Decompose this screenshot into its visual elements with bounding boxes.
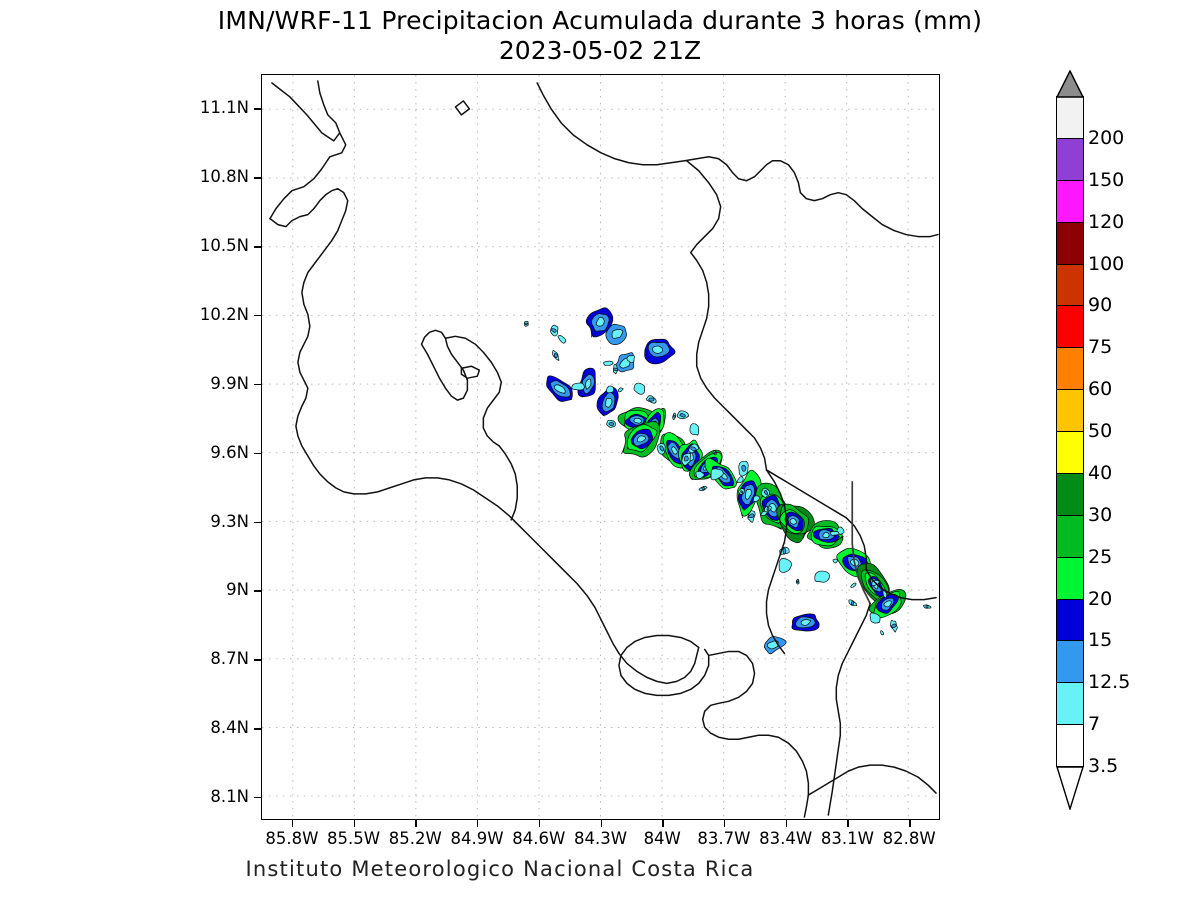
colorbar-segment[interactable] [1056, 640, 1084, 683]
y-axis-label: 8.1N [179, 787, 249, 806]
precip-contour [742, 465, 746, 471]
colorbar-tick-label: 30 [1088, 504, 1112, 526]
precip-contour [609, 422, 614, 425]
y-axis-tick [254, 384, 261, 385]
y-axis-tick [254, 108, 261, 109]
y-axis-label: 8.4N [179, 718, 249, 737]
x-axis-tick [909, 820, 910, 827]
precip-contour [558, 335, 566, 343]
y-axis-label: 10.5N [179, 236, 249, 255]
x-axis-tick [662, 820, 663, 827]
precip-contour [823, 532, 829, 537]
precip-contour [783, 548, 786, 555]
precip-contour [926, 605, 928, 608]
precip-contour [634, 418, 642, 423]
colorbar-bottom-arrow [1056, 766, 1084, 810]
y-axis-tick [254, 797, 261, 798]
y-axis-tick [254, 590, 261, 591]
precip-contour [652, 346, 662, 353]
colorbar-segment[interactable] [1056, 347, 1084, 390]
precip-contour [613, 368, 618, 371]
colorbar-tick-label: 100 [1088, 253, 1124, 275]
precip-contour [634, 383, 645, 394]
y-axis-tick [254, 315, 261, 316]
precip-contour [851, 601, 854, 605]
weather-map-figure: IMN/WRF-11 Precipitacion Acumulada duran… [0, 0, 1200, 900]
colorbar-tick-label: 15 [1088, 629, 1112, 651]
precip-contour [830, 531, 839, 535]
colorbar-segment[interactable] [1056, 222, 1084, 265]
title-line-1: IMN/WRF-11 Precipitacion Acumulada duran… [0, 6, 1200, 36]
precip-contour [603, 361, 613, 365]
footer-credit: Instituto Meteorologico Nacional Costa R… [0, 857, 1000, 881]
colorbar-segment[interactable] [1056, 724, 1084, 767]
colorbar-tick-label: 3.5 [1088, 755, 1118, 777]
colorbar-top-arrow [1056, 70, 1084, 98]
y-axis-tick [254, 728, 261, 729]
x-axis-tick [539, 820, 540, 827]
precip-contour [702, 487, 705, 490]
colorbar-tick-label: 120 [1088, 211, 1124, 233]
y-axis-tick [254, 659, 261, 660]
x-axis-tick [292, 820, 293, 827]
precip-contour [767, 507, 769, 510]
y-axis-label: 10.2N [179, 305, 249, 324]
x-axis-tick [786, 820, 787, 827]
y-axis-tick [254, 246, 261, 247]
y-axis-label: 9.3N [179, 512, 249, 531]
colorbar-segment[interactable] [1056, 138, 1084, 181]
colorbar-segment[interactable] [1056, 264, 1084, 307]
y-axis-label: 9.9N [179, 374, 249, 393]
x-axis-tick [724, 820, 725, 827]
colorbar-tick-label: 25 [1088, 546, 1112, 568]
colorbar-segment[interactable] [1056, 389, 1084, 432]
x-axis-label: 82.8W [864, 829, 954, 848]
x-axis-tick [354, 820, 355, 827]
y-axis-label: 11.1N [179, 98, 249, 117]
colorbar-segment[interactable] [1056, 473, 1084, 516]
colorbar-tick-label: 90 [1088, 294, 1112, 316]
colorbar-tick-label: 20 [1088, 588, 1112, 610]
colorbar-tick-label: 50 [1088, 420, 1112, 442]
map-canvas [262, 75, 939, 819]
precip-contour [649, 398, 655, 401]
x-axis-tick [601, 820, 602, 827]
colorbar-tick-label: 75 [1088, 336, 1112, 358]
colorbar-segment[interactable] [1056, 96, 1084, 139]
precip-contour [684, 456, 688, 461]
colorbar-tick-label: 60 [1088, 378, 1112, 400]
precip-contour [690, 424, 699, 436]
colorbar-segment[interactable] [1056, 682, 1084, 725]
colorbar-segment[interactable] [1056, 557, 1084, 600]
precip-contour [815, 571, 830, 582]
precip-contour [833, 559, 837, 563]
colorbar-segment[interactable] [1056, 180, 1084, 223]
y-axis-tick [254, 522, 261, 523]
x-axis-tick [847, 820, 848, 827]
precip-contour [881, 631, 884, 635]
x-axis-tick [415, 820, 416, 827]
y-axis-tick [254, 453, 261, 454]
precip-contour [554, 353, 557, 357]
figure-title: IMN/WRF-11 Precipitacion Acumulada duran… [0, 6, 1200, 66]
colorbar-tick-label: 12.5 [1088, 671, 1130, 693]
colorbar-segment[interactable] [1056, 431, 1084, 474]
colorbar[interactable] [1056, 96, 1084, 810]
colorbar-tick-label: 7 [1088, 713, 1100, 735]
y-axis-tick [254, 177, 261, 178]
colorbar-segment[interactable] [1056, 515, 1084, 558]
y-axis-label: 9N [179, 580, 249, 599]
precip-contour [572, 383, 585, 390]
precip-contour [606, 386, 613, 393]
y-axis-label: 8.7N [179, 649, 249, 668]
colorbar-segment[interactable] [1056, 599, 1084, 642]
colorbar-tick-label: 200 [1088, 127, 1124, 149]
colorbar-tick-label: 150 [1088, 169, 1124, 191]
map-plot-area[interactable] [261, 74, 940, 820]
y-axis-label: 10.8N [179, 167, 249, 186]
precip-contour [779, 558, 792, 572]
coastline-and-borders [270, 81, 938, 817]
precip-contour [525, 323, 528, 325]
precip-contour [618, 388, 623, 392]
colorbar-segment[interactable] [1056, 305, 1084, 348]
precip-contour [851, 583, 856, 587]
title-line-2: 2023-05-02 21Z [0, 36, 1200, 66]
y-axis-label: 9.6N [179, 443, 249, 462]
x-axis-tick [477, 820, 478, 827]
colorbar-tick-label: 40 [1088, 462, 1112, 484]
precip-contour [797, 581, 799, 583]
precip-contour [737, 477, 743, 483]
